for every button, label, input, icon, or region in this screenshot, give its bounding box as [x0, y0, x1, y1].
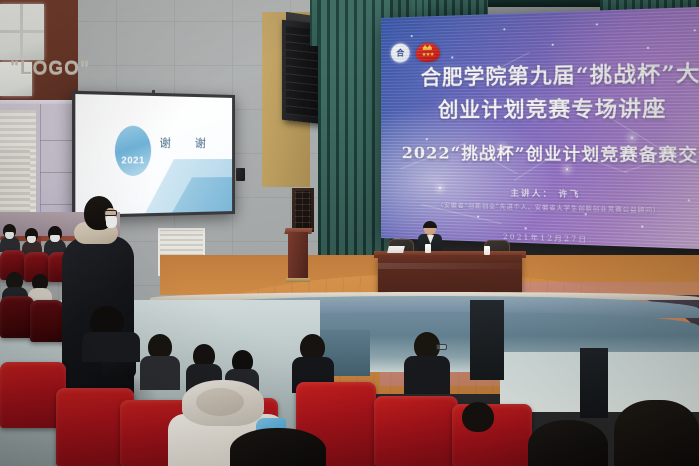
- star-speck: [647, 47, 649, 49]
- audience-person: [22, 228, 42, 254]
- audience-person: [82, 306, 140, 356]
- name-card: [387, 246, 405, 253]
- audience-person: [404, 332, 450, 390]
- stage-step-block: [580, 348, 608, 418]
- person-head: [462, 402, 494, 432]
- table-sheen: [378, 263, 522, 269]
- star-speck: [552, 44, 554, 46]
- person-head: [614, 400, 699, 466]
- audience-person: [452, 402, 508, 442]
- person-torso: [404, 356, 450, 394]
- star-speck: [503, 28, 505, 30]
- face-mask: [27, 236, 36, 243]
- person-torso: [82, 332, 140, 362]
- lectern-base: [286, 278, 310, 282]
- audience-seat: [0, 296, 34, 338]
- wall-seam: [40, 172, 72, 173]
- audience-person: [140, 334, 180, 386]
- audience-person-foreground: [528, 420, 608, 466]
- stage-side-screen: [292, 188, 314, 232]
- auditorium-photo: 合 ★★★ 合肥学院第九届“挑战杯”大 创业计划竞赛专场讲座 2022“挑战杯”…: [0, 0, 699, 466]
- face-mask: [50, 235, 60, 242]
- audience-person-foreground: [614, 400, 699, 466]
- communist-youth-league-emblem-icon: ★★★: [416, 42, 440, 62]
- audience-seat: [374, 396, 458, 466]
- person-head: [230, 428, 326, 466]
- wooden-lectern: [288, 232, 308, 280]
- star-speck: [596, 23, 598, 25]
- led-title-line1: 合肥学院第九届“挑战杯”大: [381, 55, 699, 91]
- university-emblem-label: 合: [396, 49, 404, 57]
- led-backdrop-screen: 合 ★★★ 合肥学院第九届“挑战杯”大 创业计划竞赛专场讲座 2022“挑战杯”…: [381, 6, 699, 250]
- stage-step-block: [470, 300, 504, 380]
- audience-person-foreground: [230, 428, 326, 466]
- wall-seam: [40, 140, 72, 141]
- slide-year-label: 2021: [121, 155, 144, 166]
- wall-mounted-speaker-icon: [236, 168, 245, 181]
- led-logo-row: 合 ★★★: [391, 42, 440, 62]
- screen-texture: [295, 191, 311, 229]
- window-mullion: [20, 4, 23, 60]
- star-speck: [451, 56, 453, 58]
- eyeglasses-icon: [436, 344, 447, 350]
- star-speck: [411, 35, 413, 37]
- led-title-line2: 创业计划竞赛专场讲座: [381, 90, 699, 123]
- person-head: [528, 420, 608, 466]
- university-emblem-icon: 合: [391, 43, 410, 63]
- face-mask: [5, 232, 14, 239]
- audience-person: [0, 224, 20, 250]
- led-title-line3: 2022“挑战杯”创业计划竞赛备赛交流: [381, 139, 699, 167]
- jacket-print-text: "LOGO": [10, 58, 90, 80]
- slide-wedge-decoration: [147, 177, 232, 213]
- face-mask: [106, 216, 117, 228]
- water-cup: [484, 246, 490, 255]
- water-cup: [425, 244, 431, 253]
- standing-attendee: [62, 196, 134, 396]
- cyl-emblem-label: ★★★: [422, 51, 434, 57]
- audience-seat: [30, 300, 64, 342]
- presenter-hair: [423, 221, 437, 228]
- jacket-hood-lining: [196, 388, 244, 416]
- slide-thanks-text: 谢 谢: [159, 135, 215, 152]
